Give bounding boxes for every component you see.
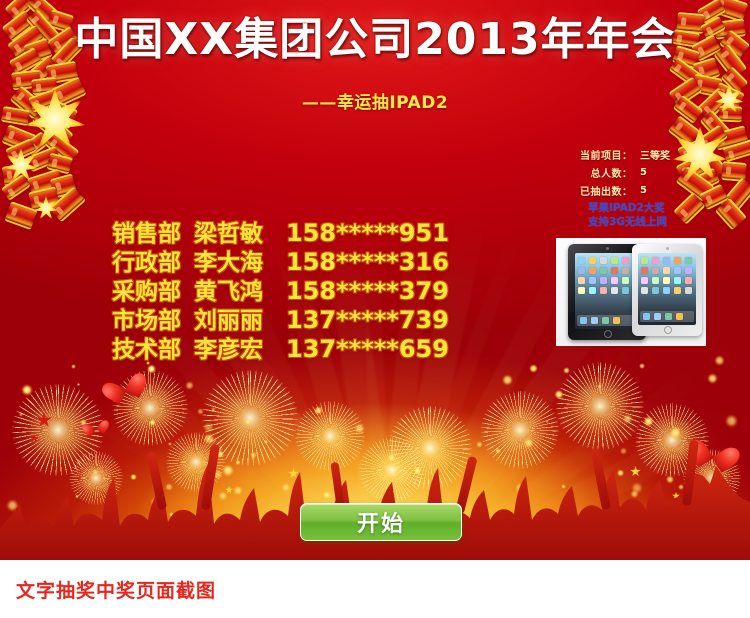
dock-app-icon — [676, 313, 683, 320]
winner-name: 李彦宏 — [194, 330, 286, 364]
sparkle-icon — [639, 363, 645, 369]
app-icon — [652, 287, 659, 294]
app-icon — [622, 277, 629, 284]
dock-app-icon — [613, 317, 620, 324]
app-icon — [589, 287, 596, 294]
app-icon — [611, 287, 618, 294]
app-icon — [674, 257, 681, 264]
start-button[interactable]: 开始 — [300, 503, 462, 541]
app-icon — [674, 287, 681, 294]
app-icon — [611, 257, 618, 264]
lottery-screenshot: 中国XX集团公司2013年年会 ——幸运抽IPAD2 销售部梁哲敏158****… — [0, 0, 750, 618]
current-project-value: 三等奖 — [630, 147, 670, 162]
winner-row: 技术部李彦宏137*****659 — [112, 330, 472, 359]
winner-phone: 158*****951 — [286, 219, 449, 247]
app-icon — [611, 267, 618, 274]
total-people-value: 5 — [630, 167, 647, 178]
promo-line-2: 支持3G无线上网 — [588, 215, 730, 229]
winner-phone: 158*****316 — [286, 248, 449, 276]
sparkle-icon — [185, 381, 194, 390]
colon-separator: ： — [622, 165, 630, 180]
promo-line-1: 苹果IPAD2大奖 — [588, 201, 730, 215]
winner-row: 销售部梁哲敏158*****951 — [112, 214, 472, 243]
info-row-total-people: 总人数 ： 5 — [560, 164, 730, 180]
ipad-screen — [575, 253, 639, 329]
app-icon — [641, 267, 648, 274]
app-icon — [674, 277, 681, 284]
sparkle-icon — [502, 374, 513, 385]
app-icon — [578, 257, 585, 264]
lottery-info-panel: 当前项目 ： 三等奖 总人数 ： 5 已抽出数 ： 5 苹果IPAD2大奖 支持… — [560, 146, 730, 229]
dock-app-icon — [665, 313, 672, 320]
app-icon — [600, 277, 607, 284]
colon-separator: ： — [622, 147, 630, 162]
colon-separator: ： — [622, 183, 630, 198]
total-people-label: 总人数 — [560, 165, 622, 180]
dock-app-icon — [591, 317, 598, 324]
winner-phone: 137*****739 — [286, 306, 449, 334]
app-icon-grid — [578, 257, 636, 294]
sparkle-icon — [554, 390, 563, 399]
app-icon — [674, 267, 681, 274]
winner-row: 采购部黄飞鸿158*****379 — [112, 272, 472, 301]
app-icon — [641, 277, 648, 284]
app-icon — [663, 277, 670, 284]
app-icon — [685, 287, 692, 294]
app-icon — [641, 287, 648, 294]
winner-department: 技术部 — [112, 330, 194, 364]
app-icon — [589, 257, 596, 264]
app-icon — [685, 267, 692, 274]
app-dock — [577, 315, 637, 326]
camera-icon — [606, 247, 609, 250]
sparkle-icon — [147, 364, 156, 373]
app-icon — [622, 257, 629, 264]
sparkle-icon — [529, 364, 538, 373]
app-icon — [652, 257, 659, 264]
dock-app-icon — [580, 317, 587, 324]
app-dock — [640, 311, 694, 322]
app-icon — [589, 267, 596, 274]
start-button-label: 开始 — [357, 506, 405, 538]
app-icon — [589, 277, 596, 284]
info-row-current-project: 当前项目 ： 三等奖 — [560, 146, 730, 162]
dock-app-icon — [602, 317, 609, 324]
drawn-count-value: 5 — [630, 185, 647, 196]
winner-row: 行政部李大海158*****316 — [112, 243, 472, 272]
ipad-white-icon — [632, 244, 702, 336]
app-icon — [622, 287, 629, 294]
app-icon — [578, 287, 585, 294]
home-button-icon — [664, 326, 672, 334]
app-icon — [685, 257, 692, 264]
winners-list: 销售部梁哲敏158*****951行政部李大海158*****316采购部黄飞鸿… — [112, 214, 472, 359]
app-icon — [622, 267, 629, 274]
app-icon-grid — [641, 257, 693, 294]
dock-app-icon — [654, 313, 661, 320]
info-row-drawn-count: 已抽出数 ： 5 — [560, 182, 730, 198]
app-icon — [652, 267, 659, 274]
app-icon — [600, 257, 607, 264]
caption-text: 文字抽奖中奖页面截图 — [0, 576, 216, 603]
winner-phone: 137*****659 — [286, 335, 449, 363]
page-subtitle: ——幸运抽IPAD2 — [0, 88, 750, 113]
page-title: 中国XX集团公司2013年年会 — [0, 14, 750, 66]
sparkle-icon — [597, 384, 602, 389]
app-icon — [663, 287, 670, 294]
app-icon — [663, 267, 670, 274]
current-project-label: 当前项目 — [560, 147, 622, 162]
app-icon — [641, 257, 648, 264]
prize-image-ipads — [556, 238, 706, 346]
prize-promo-text: 苹果IPAD2大奖 支持3G无线上网 — [560, 201, 730, 229]
winner-row: 市场部刘丽丽137*****739 — [112, 301, 472, 330]
dock-app-icon — [643, 313, 650, 320]
ipad-screen — [638, 253, 696, 325]
app-icon — [685, 277, 692, 284]
camera-icon — [666, 247, 669, 250]
poster-stage: 中国XX集团公司2013年年会 ——幸运抽IPAD2 销售部梁哲敏158****… — [0, 0, 750, 560]
app-icon — [600, 267, 607, 274]
app-icon — [611, 277, 618, 284]
home-button-icon — [604, 330, 612, 338]
app-icon — [578, 277, 585, 284]
drawn-count-label: 已抽出数 — [560, 183, 622, 198]
app-icon — [600, 287, 607, 294]
app-icon — [663, 257, 670, 264]
sparkle-icon — [714, 355, 725, 366]
caption-strip: 文字抽奖中奖页面截图 — [0, 560, 750, 618]
app-icon — [652, 277, 659, 284]
app-icon — [578, 267, 585, 274]
winner-phone: 158*****379 — [286, 277, 449, 305]
